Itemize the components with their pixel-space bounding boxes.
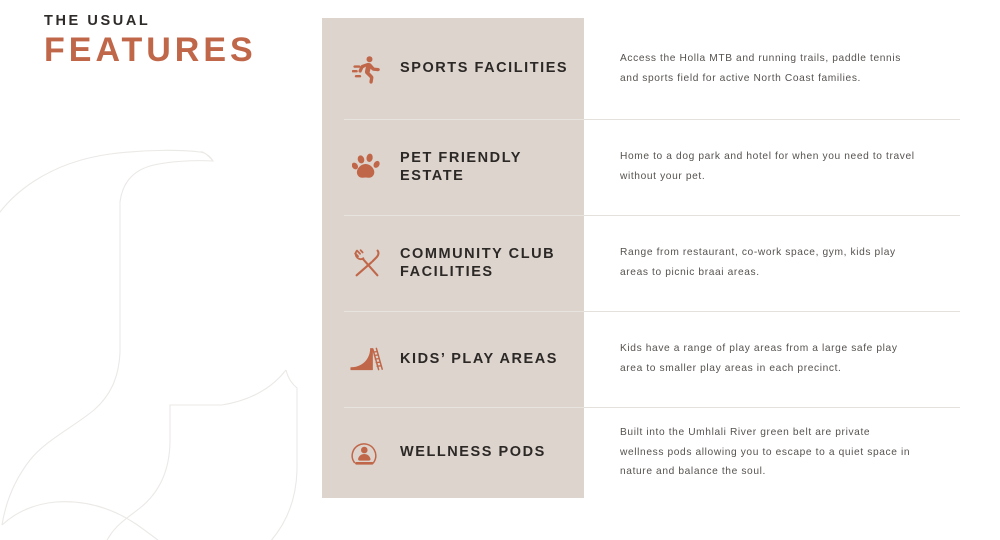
paw-print-icon bbox=[350, 150, 384, 184]
feature-description-cell: Range from restaurant, co-work space, gy… bbox=[584, 215, 960, 311]
feature-title: SPORTS FACILITIES bbox=[400, 59, 568, 77]
feature-row-kids-play-areas[interactable]: KIDS’ PLAY AREAS Kids have a range of pl… bbox=[322, 311, 960, 407]
feature-title: COMMUNITY CLUB FACILITIES bbox=[400, 245, 575, 281]
feature-title: PET FRIENDLY ESTATE bbox=[400, 149, 575, 185]
feature-description-cell: Access the Holla MTB and running trails,… bbox=[584, 18, 960, 119]
feature-row-sports-facilities[interactable]: SPORTS FACILITIES Access the Holla MTB a… bbox=[322, 18, 960, 119]
feature-heading-cell: KIDS’ PLAY AREAS bbox=[322, 311, 584, 407]
feature-row-wellness-pods[interactable]: WELLNESS PODS Built into the Umhlali Riv… bbox=[322, 407, 960, 498]
playground-slide-icon bbox=[350, 342, 384, 376]
feature-description-cell: Kids have a range of play areas from a l… bbox=[584, 311, 960, 407]
page-title: FEATURES bbox=[44, 33, 304, 69]
feature-description: Range from restaurant, co-work space, gy… bbox=[620, 243, 916, 283]
feature-heading-cell: COMMUNITY CLUB FACILITIES bbox=[322, 215, 584, 311]
feature-row-pet-friendly-estate[interactable]: PET FRIENDLY ESTATE Home to a dog park a… bbox=[322, 119, 960, 215]
feature-description-cell: Home to a dog park and hotel for when yo… bbox=[584, 119, 960, 215]
feature-heading-cell: PET FRIENDLY ESTATE bbox=[322, 119, 584, 215]
feature-title: WELLNESS PODS bbox=[400, 443, 546, 461]
features-list: SPORTS FACILITIES Access the Holla MTB a… bbox=[322, 18, 960, 498]
feature-row-community-club-facilities[interactable]: COMMUNITY CLUB FACILITIES Range from res… bbox=[322, 215, 960, 311]
heading-eyebrow: THE USUAL bbox=[44, 14, 304, 30]
page-heading: THE USUAL FEATURES bbox=[44, 14, 304, 69]
fork-knife-icon bbox=[350, 246, 384, 280]
feature-description: Access the Holla MTB and running trails,… bbox=[620, 49, 916, 89]
meditation-person-icon bbox=[350, 436, 384, 470]
decorative-leaf-monogram bbox=[0, 140, 330, 540]
feature-heading-cell: WELLNESS PODS bbox=[322, 407, 584, 498]
feature-description: Built into the Umhlali River green belt … bbox=[620, 423, 916, 483]
running-person-icon bbox=[350, 52, 384, 86]
feature-title: KIDS’ PLAY AREAS bbox=[400, 350, 558, 368]
feature-description: Kids have a range of play areas from a l… bbox=[620, 339, 916, 379]
feature-description: Home to a dog park and hotel for when yo… bbox=[620, 147, 916, 187]
feature-heading-cell: SPORTS FACILITIES bbox=[322, 18, 584, 119]
feature-description-cell: Built into the Umhlali River green belt … bbox=[584, 407, 960, 498]
